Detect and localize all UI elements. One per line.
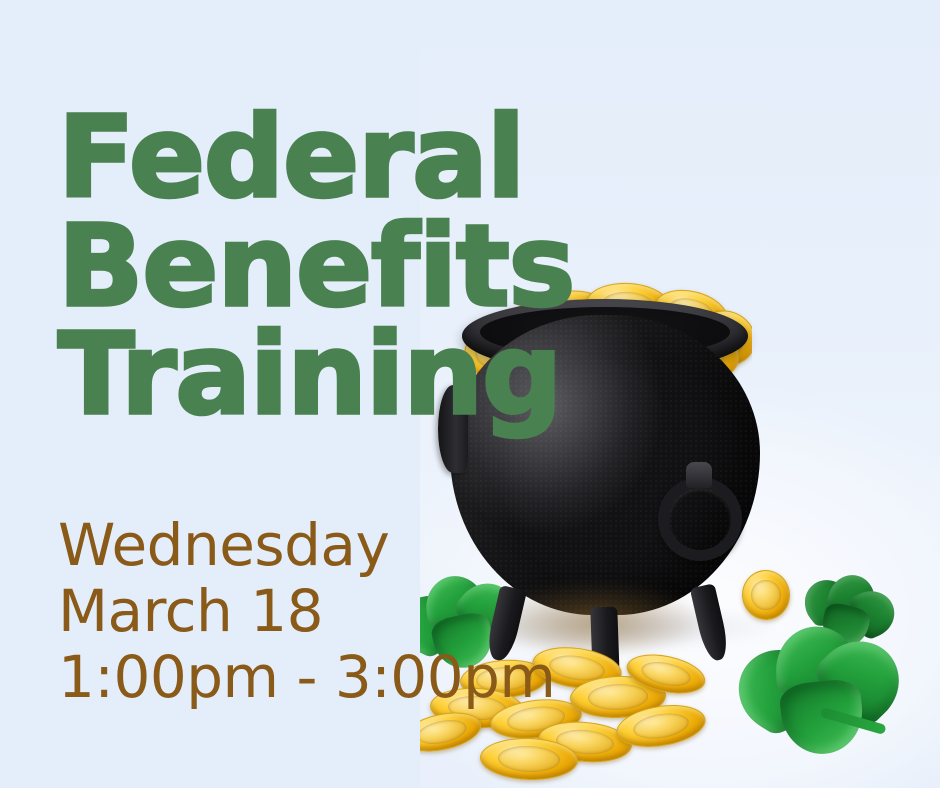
poster-canvas: Federal Benefits Training Wednesday Marc…	[0, 0, 940, 788]
event-date: March 18	[58, 578, 555, 644]
event-time: 1:00pm - 3:00pm	[58, 644, 555, 710]
headline-line-2: Benefits	[58, 213, 618, 322]
cauldron-ring-handle	[658, 477, 742, 561]
clover-icon-right	[726, 618, 914, 775]
headline-line-3: Training	[58, 321, 618, 430]
page-title: Federal Benefits Training	[58, 104, 618, 430]
headline-line-1: Federal	[58, 104, 618, 213]
event-datetime: Wednesday March 18 1:00pm - 3:00pm	[58, 512, 555, 710]
event-day: Wednesday	[58, 512, 555, 578]
